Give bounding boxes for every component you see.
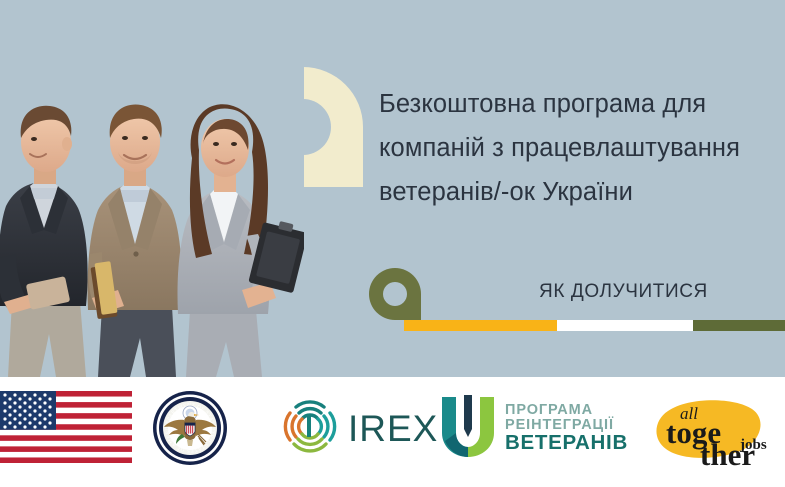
headline: Безкоштовна програма для компаній з прац… — [379, 82, 779, 214]
atj-word-jobs: jobs — [739, 437, 767, 453]
accent-bar-yellow — [404, 320, 557, 331]
veterans-program-wordmark: ПРОГРАМА РЕІНТЕГРАЦІЇ ВЕТЕРАНІВ — [505, 403, 628, 453]
headline-line-1: Безкоштовна програма для — [379, 82, 779, 126]
hero-section: Безкоштовна програма для компаній з прац… — [0, 0, 785, 377]
us-department-of-state-seal-icon: DEPARTMENT OF STATE UNITED STATES OF AME… — [152, 390, 228, 466]
promo-banner: Безкоштовна програма для компаній з прац… — [0, 0, 785, 487]
people-photo — [0, 58, 304, 377]
veterans-program-mark-icon — [440, 395, 496, 462]
logo-strip: DEPARTMENT OF STATE UNITED STATES OF AME… — [0, 377, 785, 487]
us-flag-icon — [0, 391, 132, 463]
veterans-program-line-1: ПРОГРАМА — [505, 403, 628, 418]
irex-mark-icon — [280, 397, 338, 460]
cta-label[interactable]: ЯК ДОЛУЧИТИСЯ — [539, 281, 708, 303]
veterans-program-line-3: ВЕТЕРАНІВ — [505, 433, 628, 454]
veterans-reintegration-program-logo: ПРОГРАМА РЕІНТЕГРАЦІЇ ВЕТЕРАНІВ — [440, 395, 628, 462]
irex-logo: IREX — [280, 397, 438, 460]
headline-line-3: ветеранів/-ок України — [379, 170, 779, 214]
irex-wordmark: IREX — [348, 410, 438, 447]
accent-bar-white — [557, 320, 693, 331]
all-together-jobs-logo: all toge ther jobs — [648, 391, 776, 471]
headline-line-2: компаній з працевлаштування — [379, 126, 779, 170]
cta-letter-a-mark-icon — [369, 268, 421, 327]
accent-bar-olive — [693, 320, 785, 331]
